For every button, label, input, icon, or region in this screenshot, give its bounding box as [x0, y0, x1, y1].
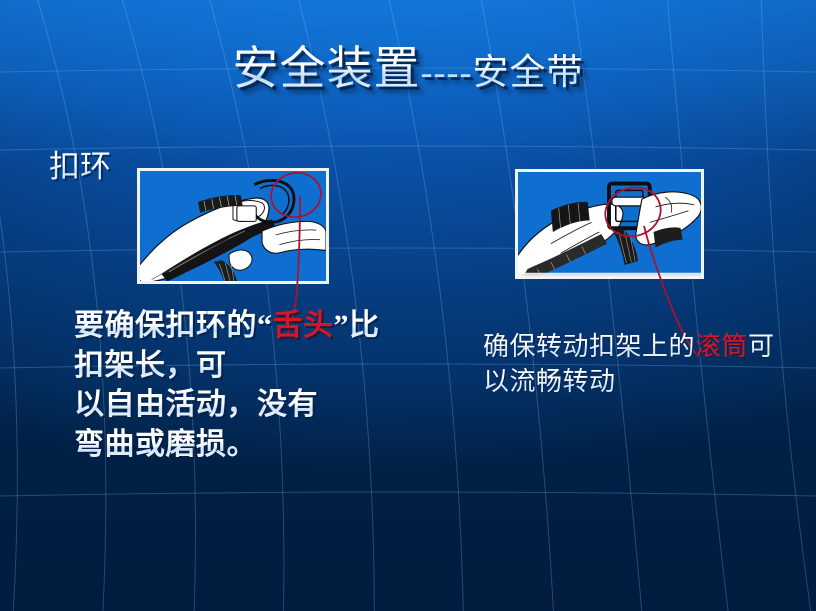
slide-title-separator: ---- — [421, 52, 473, 92]
right-caption-highlight: 滚筒 — [695, 332, 748, 361]
slide-title-tail: 安全带 — [472, 52, 583, 92]
left-caption-part-1: 要确保扣环的“ — [74, 309, 273, 342]
left-caption-highlight: 舌头 — [273, 309, 334, 342]
right-illustration-frame — [515, 169, 704, 279]
left-illustration-frame — [137, 168, 329, 284]
left-caption-text: 要确保扣环的“舌头”比扣架长，可 以自由活动，没有 弯曲或磨损。 — [74, 306, 394, 464]
right-caption-text: 确保转动扣架上的滚筒可以流畅转动 — [483, 330, 801, 400]
left-illustration — [140, 171, 326, 283]
right-caption-part-1: 确保转动扣架上的 — [483, 332, 695, 361]
buckle-label: 扣环 — [49, 150, 111, 184]
slide-title: 安全装置----安全带 — [233, 44, 584, 94]
slide-title-container: 安全装置----安全带 — [0, 44, 816, 94]
right-illustration — [518, 172, 701, 279]
slide-title-main: 安全装置 — [233, 43, 421, 94]
presentation-slide: 安全装置----安全带 扣环 — [0, 0, 816, 611]
